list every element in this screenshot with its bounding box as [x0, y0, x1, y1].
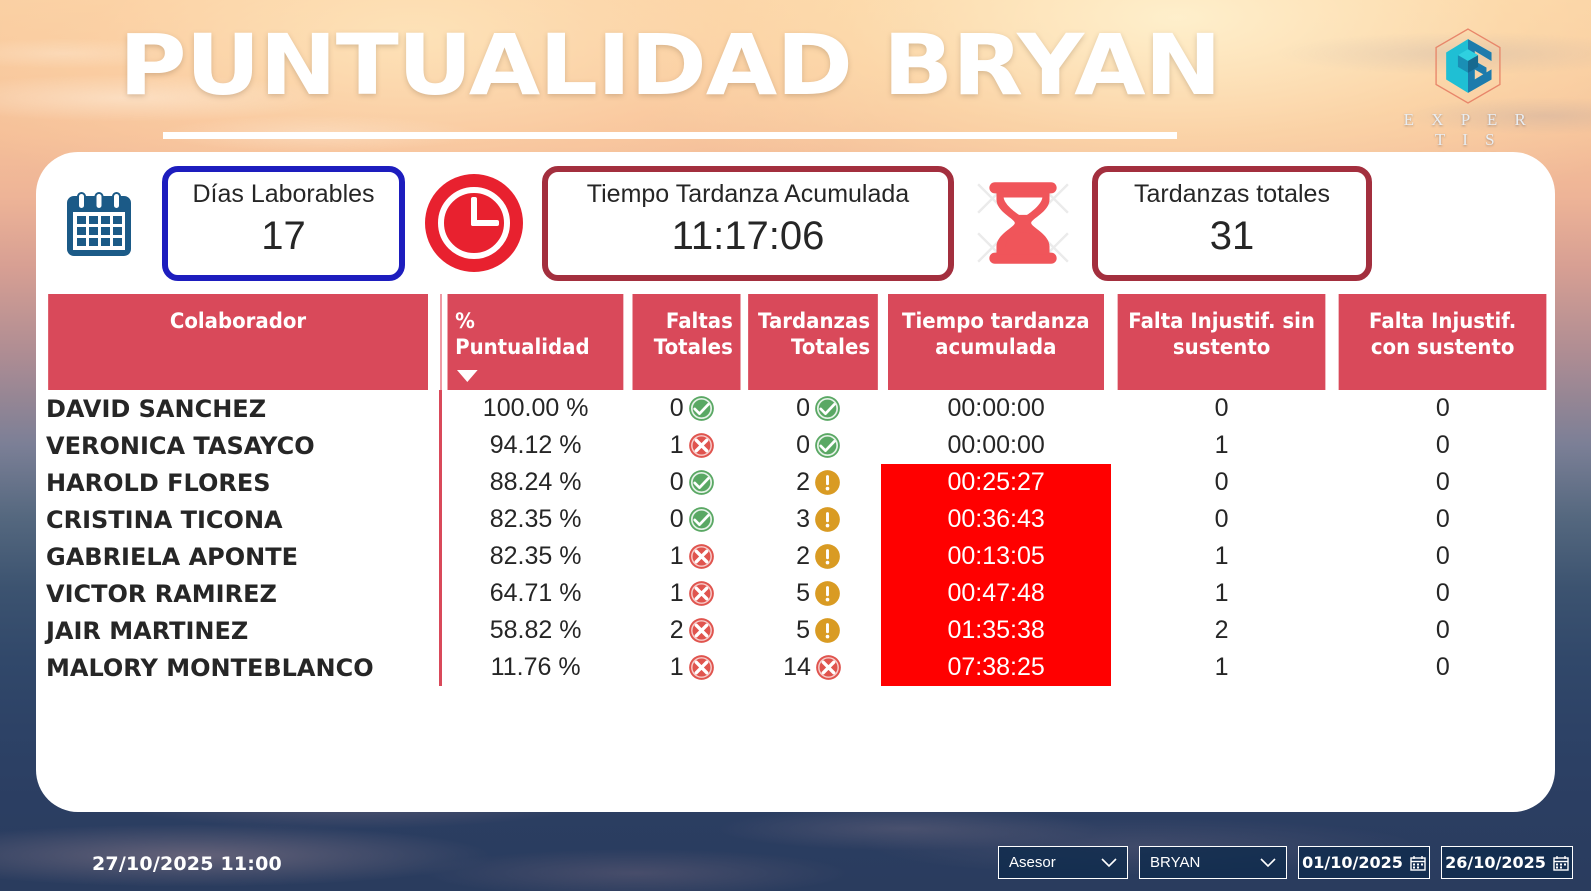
slicer-asesor-value[interactable]: BRYAN: [1139, 846, 1287, 879]
status-warning-icon: [814, 506, 841, 533]
status-ok-icon: [814, 395, 841, 422]
column-header-faltas-totales[interactable]: Faltas Totales: [632, 294, 740, 390]
main-panel: Días Laborables 17 Tiempo Tardanza Acumu…: [36, 152, 1555, 812]
cell-colaborador: DAVID SANCHEZ: [36, 390, 441, 427]
cell-tardanzas-totales: 5: [744, 575, 882, 612]
cell-faltas-totales: 1: [629, 538, 744, 575]
kpi-value-tiempo-tardanza: 11:17:06: [672, 211, 825, 261]
cell-colaborador: HAROLD FLORES: [36, 464, 441, 501]
dashboard-title-block: PUNTUALIDAD BRYAN: [0, 24, 1340, 106]
slicer-asesor-value-label: BRYAN: [1150, 854, 1200, 871]
dashboard-root: PUNTUALIDAD BRYAN E X P E R T I S Master…: [0, 0, 1591, 891]
page-title: PUNTUALIDAD BRYAN: [119, 24, 1221, 106]
cell-faltas-totales: 0: [629, 464, 744, 501]
column-header-tardanzas-totales[interactable]: Tardanzas Totales: [748, 294, 877, 390]
cell-puntualidad: 94.12 %: [441, 427, 629, 464]
cell-tardanzas-totales: 0: [744, 390, 882, 427]
cell-falta-con-sustento: 0: [1332, 464, 1553, 501]
status-ok-icon: [688, 469, 715, 496]
cell-colaborador: VICTOR RAMIREZ: [36, 575, 441, 612]
cell-falta-con-sustento: 0: [1332, 612, 1553, 649]
kpi-strip: Días Laborables 17 Tiempo Tardanza Acumu…: [36, 152, 1555, 294]
status-ok-icon: [688, 395, 715, 422]
cell-colaborador: CRISTINA TICONA: [36, 501, 441, 538]
column-header-falta-con-sustento[interactable]: Falta Injustif. con sustento: [1339, 294, 1547, 390]
kpi-card-tardanzas-totales: Tardanzas totales 31: [1092, 166, 1372, 281]
cell-falta-con-sustento: 0: [1332, 390, 1553, 427]
kpi-card-dias-laborables: Días Laborables 17: [162, 166, 405, 281]
table-row[interactable]: CRISTINA TICONA82.35 %0300:36:4300: [36, 501, 1554, 538]
status-warning-icon: [814, 617, 841, 644]
expertis-hex-icon: [1426, 24, 1510, 108]
logo-wordmark: E X P E R T I S: [1393, 110, 1543, 150]
table-row[interactable]: VERONICA TASAYCO94.12 %1000:00:0010: [36, 427, 1554, 464]
sort-descending-icon[interactable]: [457, 370, 478, 382]
status-error-icon: [815, 654, 842, 681]
cell-tiempo-tardanza: 00:36:43: [881, 501, 1111, 538]
cell-tardanzas-totales: 3: [744, 501, 882, 538]
cell-falta-con-sustento: 0: [1332, 427, 1553, 464]
cell-falta-sin-sustento: 2: [1111, 612, 1332, 649]
column-header-puntualidad[interactable]: % Puntualidad: [447, 294, 624, 390]
cell-faltas-totales: 0: [629, 390, 744, 427]
cell-tardanzas-totales: 5: [744, 612, 882, 649]
cell-puntualidad: 58.82 %: [441, 612, 629, 649]
cell-falta-con-sustento: 0: [1332, 538, 1553, 575]
date-to-picker[interactable]: 26/10/2025: [1441, 846, 1573, 879]
table-body: DAVID SANCHEZ100.00 %0000:00:0000VERONIC…: [36, 390, 1554, 686]
status-warning-icon: [814, 469, 841, 496]
status-ok-icon: [688, 506, 715, 533]
cell-tiempo-tardanza: 07:38:25: [881, 649, 1111, 686]
cell-faltas-totales: 0: [629, 501, 744, 538]
date-from-value: 01/10/2025: [1302, 853, 1403, 872]
title-underline: [163, 132, 1177, 139]
status-error-icon: [688, 543, 715, 570]
cell-falta-sin-sustento: 0: [1111, 464, 1332, 501]
cell-falta-sin-sustento: 1: [1111, 538, 1332, 575]
cell-colaborador: VERONICA TASAYCO: [36, 427, 441, 464]
status-warning-icon: [814, 543, 841, 570]
column-header-tiempo-tardanza[interactable]: Tiempo tardanza acumulada: [888, 294, 1104, 390]
cell-tiempo-tardanza: 00:25:27: [881, 464, 1111, 501]
cell-puntualidad: 82.35 %: [441, 501, 629, 538]
cell-puntualidad: 11.76 %: [441, 649, 629, 686]
cell-tiempo-tardanza: 00:00:00: [881, 390, 1111, 427]
table-row[interactable]: GABRIELA APONTE82.35 %1200:13:0510: [36, 538, 1554, 575]
kpi-label-dias-laborables: Días Laborables: [192, 181, 374, 209]
calendar-icon: [1553, 855, 1569, 871]
refresh-timestamp: 27/10/2025 11:00: [92, 853, 282, 875]
cell-faltas-totales: 2: [629, 612, 744, 649]
column-header-colaborador[interactable]: Colaborador: [48, 294, 429, 390]
chevron-down-icon: [1260, 858, 1276, 868]
table-row[interactable]: VICTOR RAMIREZ64.71 %1500:47:4810: [36, 575, 1554, 612]
hourglass-icon: [954, 172, 1092, 274]
cell-falta-sin-sustento: 1: [1111, 575, 1332, 612]
table-row[interactable]: JAIR MARTINEZ58.82 %2501:35:3820: [36, 612, 1554, 649]
cell-faltas-totales: 1: [629, 649, 744, 686]
cell-falta-sin-sustento: 0: [1111, 501, 1332, 538]
column-header-falta-sin-sustento[interactable]: Falta Injustif. sin sustento: [1118, 294, 1326, 390]
cell-falta-con-sustento: 0: [1332, 649, 1553, 686]
slicer-asesor-field-label: Asesor: [1009, 854, 1056, 871]
cell-puntualidad: 100.00 %: [441, 390, 629, 427]
kpi-label-tiempo-tardanza: Tiempo Tardanza Acumulada: [587, 181, 909, 209]
cell-tardanzas-totales: 0: [744, 427, 882, 464]
cell-puntualidad: 82.35 %: [441, 538, 629, 575]
cell-tiempo-tardanza: 00:00:00: [881, 427, 1111, 464]
status-error-icon: [688, 654, 715, 681]
clock-icon: [405, 173, 542, 273]
footer-bar: 27/10/2025 11:00 Asesor BRYAN 01/10/2025: [0, 833, 1591, 891]
status-error-icon: [688, 580, 715, 607]
cell-tiempo-tardanza: 00:47:48: [881, 575, 1111, 612]
kpi-label-tardanzas-totales: Tardanzas totales: [1134, 181, 1330, 209]
cell-tiempo-tardanza: 01:35:38: [881, 612, 1111, 649]
status-error-icon: [688, 432, 715, 459]
calendar-icon: [36, 184, 162, 262]
kpi-value-dias-laborables: 17: [261, 211, 306, 261]
chevron-down-icon: [1101, 858, 1117, 868]
cell-falta-con-sustento: 0: [1332, 575, 1553, 612]
cell-colaborador: JAIR MARTINEZ: [36, 612, 441, 649]
cell-falta-sin-sustento: 0: [1111, 390, 1332, 427]
cell-puntualidad: 64.71 %: [441, 575, 629, 612]
footer-filters: Asesor BRYAN 01/10/2025: [998, 846, 1573, 879]
cell-tiempo-tardanza: 00:13:05: [881, 538, 1111, 575]
cell-colaborador: GABRIELA APONTE: [36, 538, 441, 575]
cell-tardanzas-totales: 2: [744, 464, 882, 501]
table-row[interactable]: DAVID SANCHEZ100.00 %0000:00:0000: [36, 390, 1554, 427]
table-header-row: Colaborador % Puntualidad Faltas Totales…: [36, 294, 1554, 390]
date-from-picker[interactable]: 01/10/2025: [1298, 846, 1430, 879]
column-header-puntualidad-label: % Puntualidad: [455, 309, 590, 359]
table-row[interactable]: MALORY MONTEBLANCO11.76 %11407:38:2510: [36, 649, 1554, 686]
slicer-asesor-field[interactable]: Asesor: [998, 846, 1128, 879]
status-ok-icon: [814, 432, 841, 459]
cell-faltas-totales: 1: [629, 427, 744, 464]
calendar-icon: [1410, 855, 1426, 871]
cell-colaborador: MALORY MONTEBLANCO: [36, 649, 441, 686]
kpi-value-tardanzas-totales: 31: [1210, 211, 1255, 261]
company-logo: E X P E R T I S Master Servicer & Collec…: [1393, 24, 1543, 160]
status-error-icon: [688, 617, 715, 644]
date-to-value: 26/10/2025: [1445, 853, 1546, 872]
status-warning-icon: [814, 580, 841, 607]
cell-faltas-totales: 1: [629, 575, 744, 612]
cell-falta-sin-sustento: 1: [1111, 427, 1332, 464]
kpi-card-tiempo-tardanza: Tiempo Tardanza Acumulada 11:17:06: [542, 166, 954, 281]
cell-tardanzas-totales: 2: [744, 538, 882, 575]
cell-falta-sin-sustento: 1: [1111, 649, 1332, 686]
punctuality-table: Colaborador % Puntualidad Faltas Totales…: [36, 294, 1555, 686]
cell-falta-con-sustento: 0: [1332, 501, 1553, 538]
cell-puntualidad: 88.24 %: [441, 464, 629, 501]
cell-tardanzas-totales: 14: [744, 649, 882, 686]
table-row[interactable]: HAROLD FLORES88.24 %0200:25:2700: [36, 464, 1554, 501]
